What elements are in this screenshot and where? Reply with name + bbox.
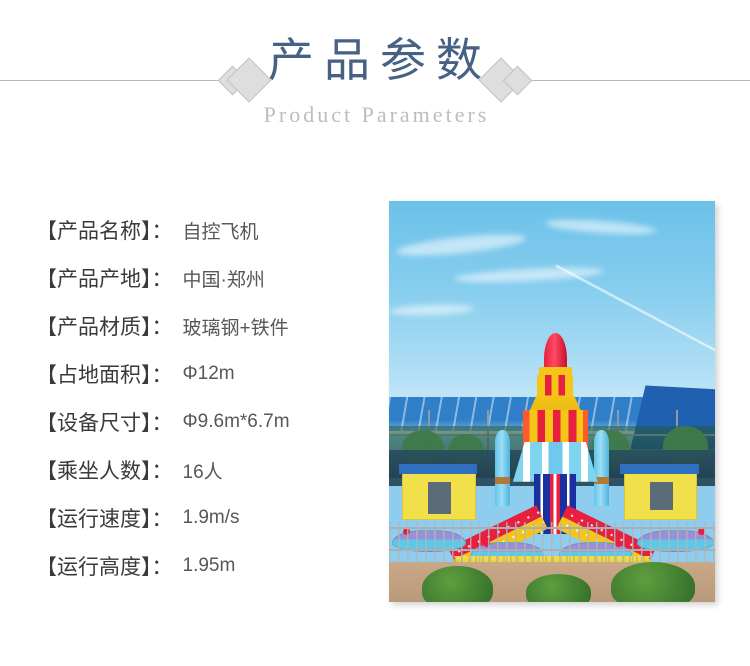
product-spec-list: 【产品名称】： 自控飞机 【产品产地】： 中国·郑州 【产品材质】： 玻璃钢+铁… — [36, 206, 376, 590]
spec-value: 中国·郑州 — [183, 265, 265, 292]
spec-row-speed: 【运行速度】： 1.9m/s — [36, 494, 376, 542]
spec-value: 16人 — [183, 457, 223, 484]
rocket-nose-cone — [544, 333, 567, 369]
product-photo — [389, 201, 715, 602]
spec-row-material: 【产品材质】： 玻璃钢+铁件 — [36, 302, 376, 350]
photo-scene — [389, 201, 715, 602]
spec-value: Φ12m — [183, 363, 235, 385]
spec-row-product-name: 【产品名称】： 自控飞机 — [36, 206, 376, 254]
spec-label: 【产品名称】： — [36, 215, 173, 245]
rocket-booster-right — [594, 430, 609, 506]
spec-label: 【运行速度】： — [36, 503, 173, 533]
rocket-booster-left — [495, 430, 510, 506]
spec-value: 玻璃钢+铁件 — [183, 313, 289, 340]
spec-label: 【运行高度】： — [36, 551, 173, 581]
spec-label: 【乘坐人数】： — [36, 455, 173, 485]
fence-middle-rail — [389, 549, 715, 551]
rocket-mid-section — [537, 375, 573, 399]
spec-row-dimensions: 【设备尺寸】： Φ9.6m*6.7m — [36, 398, 376, 446]
spec-row-height: 【运行高度】： 1.95m — [36, 542, 376, 590]
booster-band — [495, 477, 510, 484]
spec-label: 【产品材质】： — [36, 311, 173, 341]
spec-value: Φ9.6m*6.7m — [183, 411, 290, 433]
spec-label: 【占地面积】： — [36, 359, 173, 389]
spec-value: 1.9m/s — [183, 507, 240, 529]
page-header: 产品参数 Product Parameters — [0, 0, 750, 150]
spec-label: 【产品产地】： — [36, 263, 173, 293]
spec-row-origin: 【产品产地】： 中国·郑州 — [36, 254, 376, 302]
spec-row-footprint: 【占地面积】： Φ12m — [36, 350, 376, 398]
page-title: 产品参数 — [0, 32, 750, 88]
spec-label: 【设备尺寸】： — [36, 407, 173, 437]
fence-top-rail — [389, 527, 715, 529]
page-subtitle: Product Parameters — [0, 100, 750, 130]
spec-value: 自控飞机 — [183, 217, 259, 244]
spec-row-capacity: 【乘坐人数】： 16人 — [36, 446, 376, 494]
spec-value: 1.95m — [183, 555, 236, 577]
